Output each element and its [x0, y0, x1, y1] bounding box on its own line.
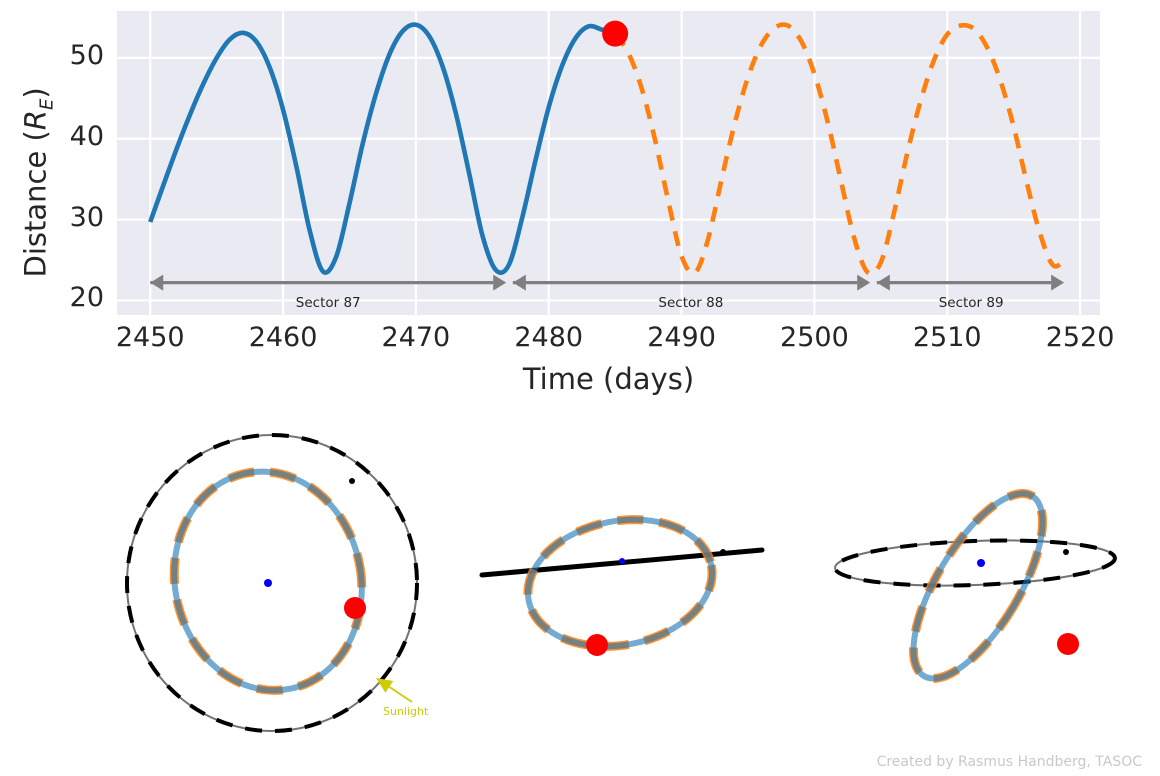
- y-tick-label: 30: [38, 202, 104, 233]
- earth-marker: [619, 558, 625, 564]
- spacecraft-marker: [1057, 633, 1079, 655]
- spacecraft-orbit-past: [517, 504, 723, 661]
- sector-89-label: Sector 89: [871, 295, 1071, 311]
- figure-credit: Created by Rasmus Handberg, TASOC: [877, 754, 1142, 770]
- sunlight-arrow-head: [376, 678, 393, 693]
- figure-root: Distance (RE) Time (days) 24502460247024…: [0, 0, 1160, 776]
- spacecraft-marker: [344, 597, 366, 619]
- x-tick-label: 2480: [489, 322, 609, 353]
- x-tick-label: 2500: [754, 322, 874, 353]
- orbit-panels: Sunlight: [0, 410, 1160, 776]
- x-tick-label: 2470: [356, 322, 476, 353]
- sunlight-label: Sunlight: [383, 705, 428, 718]
- x-tick-label: 2520: [1020, 322, 1140, 353]
- y-tick-label: 50: [38, 40, 104, 71]
- sunlight-arrow-line: [389, 687, 412, 702]
- x-tick-label: 2510: [887, 322, 1007, 353]
- moon-marker: [349, 478, 355, 484]
- moon-orbit-ellipse-underlay: [834, 536, 1115, 590]
- orbit-view-side: [482, 504, 762, 661]
- chart-markers: [602, 21, 628, 47]
- orbit-canvas: [0, 410, 1160, 776]
- sector-88-label: Sector 88: [591, 295, 791, 311]
- y-tick-label: 40: [38, 121, 104, 152]
- sector-87-label: Sector 87: [228, 295, 428, 311]
- x-tick-label: 2450: [90, 322, 210, 353]
- moon-marker: [1063, 549, 1069, 555]
- y-tick-label: 20: [38, 282, 104, 313]
- x-axis-label: Time (days): [117, 362, 1100, 396]
- orbit-view-top: [127, 435, 417, 731]
- earth-marker: [264, 579, 272, 587]
- earth-marker: [977, 559, 985, 567]
- spacecraft-marker: [586, 634, 608, 656]
- orbit-view-angled: [834, 475, 1115, 697]
- moon-marker: [720, 549, 726, 555]
- x-tick-label: 2460: [223, 322, 343, 353]
- distance-time-chart: Distance (RE) Time (days) 24502460247024…: [0, 0, 1160, 410]
- current-position-marker: [602, 21, 628, 47]
- spacecraft-orbit-future: [517, 504, 723, 661]
- x-tick-label: 2490: [622, 322, 742, 353]
- y-axis-label-text: Distance (RE): [19, 87, 53, 277]
